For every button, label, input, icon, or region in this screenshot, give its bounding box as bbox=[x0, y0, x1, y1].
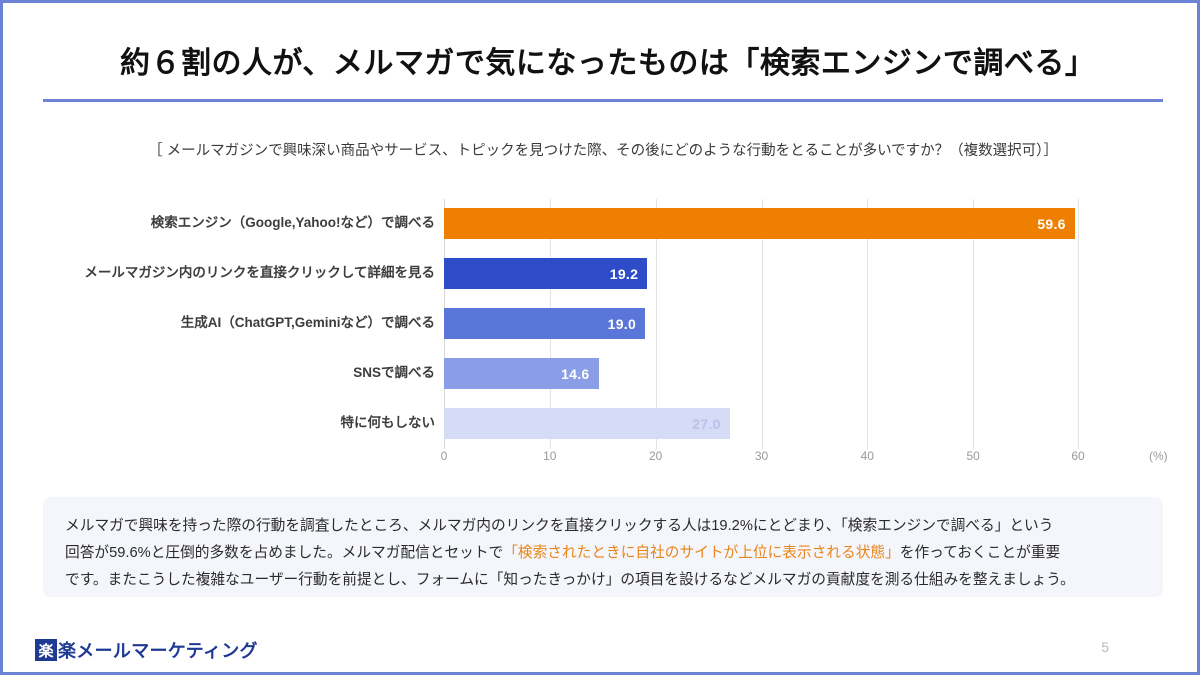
bar-nothing: 27.0 bbox=[444, 408, 730, 439]
x-tick: 60 bbox=[1071, 449, 1084, 463]
page-title: 約６割の人が、メルマガで気になったものは「検索エンジンで調べる」 bbox=[120, 38, 1095, 82]
bar-value-label: 14.6 bbox=[561, 366, 598, 382]
bar-row: 14.6 bbox=[444, 349, 1079, 397]
category-label: SNSで調べる bbox=[53, 349, 435, 397]
category-label: 検索エンジン（Google,Yahoo!など）で調べる bbox=[53, 199, 435, 247]
bar-direct-link: 19.2 bbox=[444, 258, 647, 289]
logo-text: 楽メールマーケティング bbox=[58, 637, 258, 663]
summary-line-2: 回答が59.6%と圧倒的多数を占めました。メルマガ配信とセットで「検索されたとき… bbox=[65, 540, 1141, 567]
bar-row: 19.0 bbox=[444, 299, 1079, 347]
category-label-column: 検索エンジン（Google,Yahoo!など）で調べる メールマガジン内のリンク… bbox=[53, 199, 435, 449]
x-tick: 40 bbox=[861, 449, 874, 463]
page-number: 5 bbox=[1101, 639, 1109, 655]
bar-sns: 14.6 bbox=[444, 358, 599, 389]
summary-text: メルマガで興味を持った際の行動を調査したところ、メルマガ内のリンクを直接クリック… bbox=[65, 518, 1053, 534]
bar-value-label: 59.6 bbox=[1037, 216, 1074, 232]
x-tick: 20 bbox=[649, 449, 662, 463]
x-tick: 10 bbox=[543, 449, 556, 463]
bar-value-label: 19.2 bbox=[610, 266, 647, 282]
title-divider bbox=[43, 99, 1163, 102]
survey-question: ［ メールマガジンで興味深い商品やサービス、トピックを見つけた際、その後にどのよ… bbox=[3, 139, 1200, 160]
summary-text: を作っておくことが重要 bbox=[900, 545, 1060, 561]
summary-text: 回答が59.6%と圧倒的多数を占めました。メルマガ配信とセットで bbox=[65, 545, 503, 561]
title-block: 約６割の人が、メルマガで気になったものは「検索エンジンで調べる」 bbox=[3, 25, 1200, 95]
bar-generative-ai: 19.0 bbox=[444, 308, 645, 339]
summary-box: メルマガで興味を持った際の行動を調査したところ、メルマガ内のリンクを直接クリック… bbox=[43, 497, 1163, 597]
summary-line-1: メルマガで興味を持った際の行動を調査したところ、メルマガ内のリンクを直接クリック… bbox=[65, 513, 1141, 540]
x-axis-unit: (%) bbox=[1149, 449, 1168, 463]
category-label: メールマガジン内のリンクを直接クリックして詳細を見る bbox=[53, 249, 435, 297]
logo-mark-icon: 楽 bbox=[35, 639, 57, 661]
bar-rows: 59.6 19.2 19.0 14.6 bbox=[444, 199, 1079, 449]
category-label: 特に何もしない bbox=[53, 399, 435, 447]
bar-search-engine: 59.6 bbox=[444, 208, 1075, 239]
brand-logo: 楽 楽メールマーケティング bbox=[35, 638, 258, 662]
x-tick: 50 bbox=[967, 449, 980, 463]
summary-text: です。またこうした複雑なユーザー行動を前提とし、フォームに「知ったきっかけ」の項… bbox=[65, 572, 1075, 588]
summary-highlight: 「検索されたときに自社のサイトが上位に表示される状態」 bbox=[503, 545, 900, 561]
plot-area: 59.6 19.2 19.0 14.6 bbox=[444, 199, 1079, 449]
bar-chart: 検索エンジン（Google,Yahoo!など）で調べる メールマガジン内のリンク… bbox=[53, 193, 1153, 468]
bar-row: 59.6 bbox=[444, 199, 1079, 247]
category-label: 生成AI（ChatGPT,Geminiなど）で調べる bbox=[53, 299, 435, 347]
bar-row: 19.2 bbox=[444, 249, 1079, 297]
summary-line-3: です。またこうした複雑なユーザー行動を前提とし、フォームに「知ったきっかけ」の項… bbox=[65, 567, 1141, 594]
bar-row: 27.0 bbox=[444, 399, 1079, 447]
x-axis: 0 10 20 30 40 50 60 (%) bbox=[444, 449, 1144, 473]
x-tick: 30 bbox=[755, 449, 768, 463]
x-tick: 0 bbox=[441, 449, 448, 463]
bar-value-label: 27.0 bbox=[692, 416, 729, 432]
slide-root: 約６割の人が、メルマガで気になったものは「検索エンジンで調べる」 ［ メールマガ… bbox=[0, 0, 1200, 675]
bar-value-label: 19.0 bbox=[608, 316, 645, 332]
